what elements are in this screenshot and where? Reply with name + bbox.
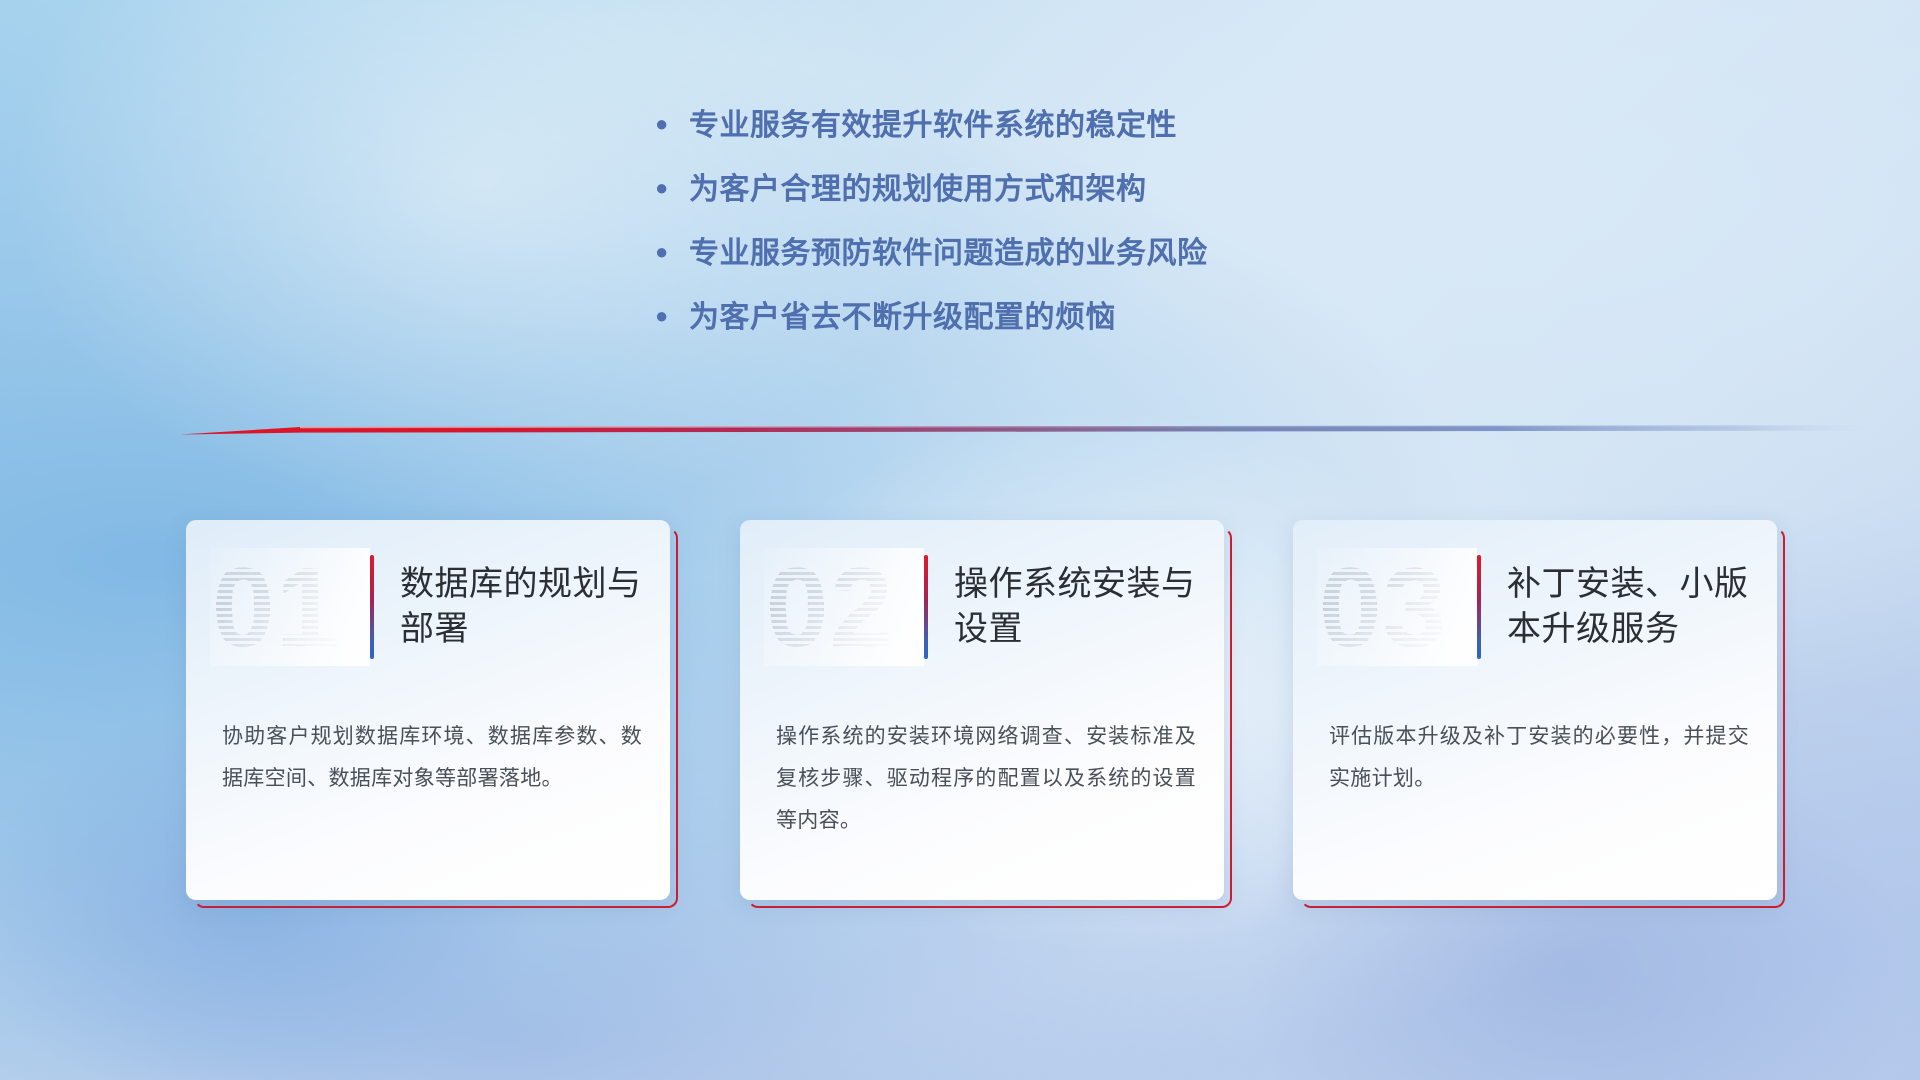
card-number-graphic: 01 01 bbox=[210, 548, 370, 666]
service-card-03[interactable]: 03 03 补丁安装、小版本升级服务 评估版本升级及补丁安装的必要性，并提交实施… bbox=[1293, 520, 1785, 908]
card-divider-rule bbox=[370, 555, 374, 659]
card-divider-rule bbox=[924, 555, 928, 659]
card-title: 补丁安装、小版本升级服务 bbox=[1507, 562, 1757, 652]
card-divider-rule bbox=[1477, 555, 1481, 659]
bullet-dot-icon: ● bbox=[655, 241, 689, 263]
bullet-text: 为客户省去不断升级配置的烦恼 bbox=[689, 292, 1116, 336]
card-surface: 03 03 补丁安装、小版本升级服务 评估版本升级及补丁安装的必要性，并提交实施… bbox=[1293, 520, 1777, 900]
bullet-dot-icon: ● bbox=[655, 305, 689, 327]
card-description: 评估版本升级及补丁安装的必要性，并提交实施计划。 bbox=[1329, 716, 1749, 800]
card-number-graphic: 02 02 bbox=[764, 548, 924, 666]
benefits-bullet-list: ● 专业服务有效提升软件系统的稳定性 ● 为客户合理的规划使用方式和架构 ● 专… bbox=[655, 100, 1555, 356]
service-card-01[interactable]: 01 01 数据库的规划与部署 协助客户规划数据库环境、数据库参数、数据库空间、… bbox=[186, 520, 678, 908]
bullet-dot-icon: ● bbox=[655, 113, 689, 135]
card-title: 操作系统安装与设置 bbox=[954, 562, 1204, 652]
tapered-accent-divider bbox=[180, 418, 1870, 444]
card-surface: 02 02 操作系统安装与设置 操作系统的安装环境网络调查、安装标准及复核步骤、… bbox=[740, 520, 1224, 900]
list-item: ● 专业服务预防软件问题造成的业务风险 bbox=[655, 228, 1555, 292]
card-header: 02 02 操作系统安装与设置 bbox=[740, 542, 1224, 672]
service-card-02[interactable]: 02 02 操作系统安装与设置 操作系统的安装环境网络调查、安装标准及复核步骤、… bbox=[740, 520, 1232, 908]
card-description: 操作系统的安装环境网络调查、安装标准及复核步骤、驱动程序的配置以及系统的设置等内… bbox=[776, 716, 1196, 842]
bullet-dot-icon: ● bbox=[655, 177, 689, 199]
card-header: 03 03 补丁安装、小版本升级服务 bbox=[1293, 542, 1777, 672]
bullet-text: 专业服务预防软件问题造成的业务风险 bbox=[689, 228, 1208, 272]
card-header: 01 01 数据库的规划与部署 bbox=[186, 542, 670, 672]
card-description: 协助客户规划数据库环境、数据库参数、数据库空间、数据库对象等部署落地。 bbox=[222, 716, 642, 800]
list-item: ● 专业服务有效提升软件系统的稳定性 bbox=[655, 100, 1555, 164]
list-item: ● 为客户合理的规划使用方式和架构 bbox=[655, 164, 1555, 228]
bullet-text: 为客户合理的规划使用方式和架构 bbox=[689, 164, 1147, 208]
card-title: 数据库的规划与部署 bbox=[400, 562, 650, 652]
bullet-text: 专业服务有效提升软件系统的稳定性 bbox=[689, 100, 1177, 144]
service-card-row: 01 01 数据库的规划与部署 协助客户规划数据库环境、数据库参数、数据库空间、… bbox=[0, 520, 1920, 940]
list-item: ● 为客户省去不断升级配置的烦恼 bbox=[655, 292, 1555, 356]
card-number-graphic: 03 03 bbox=[1317, 548, 1477, 666]
card-surface: 01 01 数据库的规划与部署 协助客户规划数据库环境、数据库参数、数据库空间、… bbox=[186, 520, 670, 900]
